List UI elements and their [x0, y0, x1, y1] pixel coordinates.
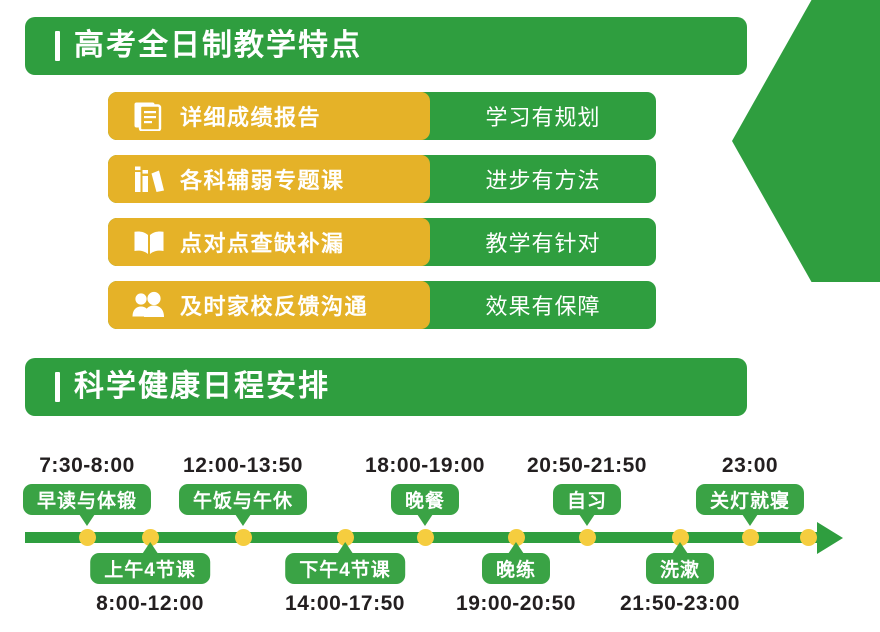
- feature-list: 学习有规划 详细成绩报告 进步有方法: [0, 92, 880, 344]
- section-title-text: 科学健康日程安排: [74, 372, 330, 402]
- timeline-activity-bubble[interactable]: 晚餐: [391, 484, 459, 515]
- timeline-dot: [417, 529, 434, 546]
- bubble-tail-icon: [417, 514, 433, 526]
- section-title-text: 高考全日制教学特点: [74, 31, 362, 61]
- timeline-activity-label: 晚练: [496, 555, 536, 582]
- bubble-tail-icon: [742, 514, 758, 526]
- timeline-activity-label: 上午4节课: [104, 555, 196, 582]
- feature-benefit-label: 效果有保障: [430, 281, 656, 329]
- feature-pill[interactable]: 各科辅弱专题课: [108, 155, 430, 203]
- timeline-activity-label: 晚餐: [405, 486, 445, 513]
- daily-schedule-timeline: 7:30-8:00早读与体锻12:00-13:50午饭与午休18:00-19:0…: [0, 440, 880, 632]
- feature-label-text: 及时家校反馈沟通: [180, 289, 368, 321]
- section-header-teaching-features: 高考全日制教学特点: [25, 17, 747, 75]
- feature-pill[interactable]: 及时家校反馈沟通: [108, 281, 430, 329]
- timeline-dot: [742, 529, 759, 546]
- timeline-dot: [579, 529, 596, 546]
- feature-benefit-label: 教学有针对: [430, 218, 656, 266]
- timeline-time-label: 20:50-21:50: [527, 454, 647, 478]
- books-shelf-icon: [132, 164, 166, 194]
- bubble-tail-icon: [579, 514, 595, 526]
- timeline-dot: [235, 529, 252, 546]
- timeline-activity-bubble[interactable]: 晚练: [482, 553, 550, 584]
- timeline-time-label: 21:50-23:00: [620, 592, 740, 616]
- header-tick-mark: [55, 372, 60, 402]
- timeline-time-label: 19:00-20:50: [456, 592, 576, 616]
- timeline-time-label: 12:00-13:50: [183, 454, 303, 478]
- feature-label-text: 点对点查缺补漏: [180, 226, 345, 258]
- feature-benefit-label: 学习有规划: [430, 92, 656, 140]
- bubble-tail-icon: [142, 542, 158, 554]
- bubble-tail-icon: [672, 542, 688, 554]
- timeline-activity-bubble[interactable]: 午饭与午休: [179, 484, 307, 515]
- timeline-activity-label: 关灯就寝: [710, 486, 790, 513]
- timeline-activity-bubble[interactable]: 早读与体锻: [23, 484, 151, 515]
- timeline-dot: [800, 529, 817, 546]
- report-document-icon: [132, 101, 166, 131]
- feature-pill[interactable]: 详细成绩报告: [108, 92, 430, 140]
- bubble-tail-icon: [235, 514, 251, 526]
- feature-row[interactable]: 效果有保障 及时家校反馈沟通: [0, 281, 880, 329]
- timeline-activity-label: 下午4节课: [299, 555, 391, 582]
- bubble-tail-icon: [337, 542, 353, 554]
- feature-row[interactable]: 学习有规划 详细成绩报告: [0, 92, 880, 140]
- feature-row[interactable]: 进步有方法 各科辅弱专题课: [0, 155, 880, 203]
- timeline-activity-bubble[interactable]: 关灯就寝: [696, 484, 804, 515]
- timeline-activity-label: 早读与体锻: [37, 486, 137, 513]
- feature-label-text: 各科辅弱专题课: [180, 163, 345, 195]
- section-header-daily-schedule: 科学健康日程安排: [25, 358, 747, 416]
- bubble-tail-icon: [508, 542, 524, 554]
- timeline-time-label: 14:00-17:50: [285, 592, 405, 616]
- timeline-time-label: 18:00-19:00: [365, 454, 485, 478]
- timeline-activity-label: 午饭与午休: [193, 486, 293, 513]
- timeline-activity-bubble[interactable]: 下午4节课: [285, 553, 405, 584]
- header-tick-mark: [55, 31, 60, 61]
- timeline-activity-bubble[interactable]: 上午4节课: [90, 553, 210, 584]
- timeline-time-label: 7:30-8:00: [39, 454, 135, 478]
- timeline-dot: [79, 529, 96, 546]
- timeline-time-label: 8:00-12:00: [96, 592, 204, 616]
- open-book-icon: [132, 227, 166, 257]
- feature-label-text: 详细成绩报告: [180, 100, 321, 132]
- feature-pill[interactable]: 点对点查缺补漏: [108, 218, 430, 266]
- timeline-activity-bubble[interactable]: 自习: [553, 484, 621, 515]
- two-people-icon: [132, 290, 166, 320]
- poster-canvas: 高考全日制教学特点 学习有规划 详细成绩报告: [0, 0, 880, 632]
- bubble-tail-icon: [79, 514, 95, 526]
- feature-benefit-label: 进步有方法: [430, 155, 656, 203]
- timeline-time-label: 23:00: [722, 454, 778, 478]
- timeline-arrow-head-icon: [817, 522, 843, 554]
- timeline-activity-label: 洗漱: [660, 555, 700, 582]
- timeline-activity-label: 自习: [567, 486, 607, 513]
- feature-row[interactable]: 教学有针对 点对点查缺补漏: [0, 218, 880, 266]
- timeline-activity-bubble[interactable]: 洗漱: [646, 553, 714, 584]
